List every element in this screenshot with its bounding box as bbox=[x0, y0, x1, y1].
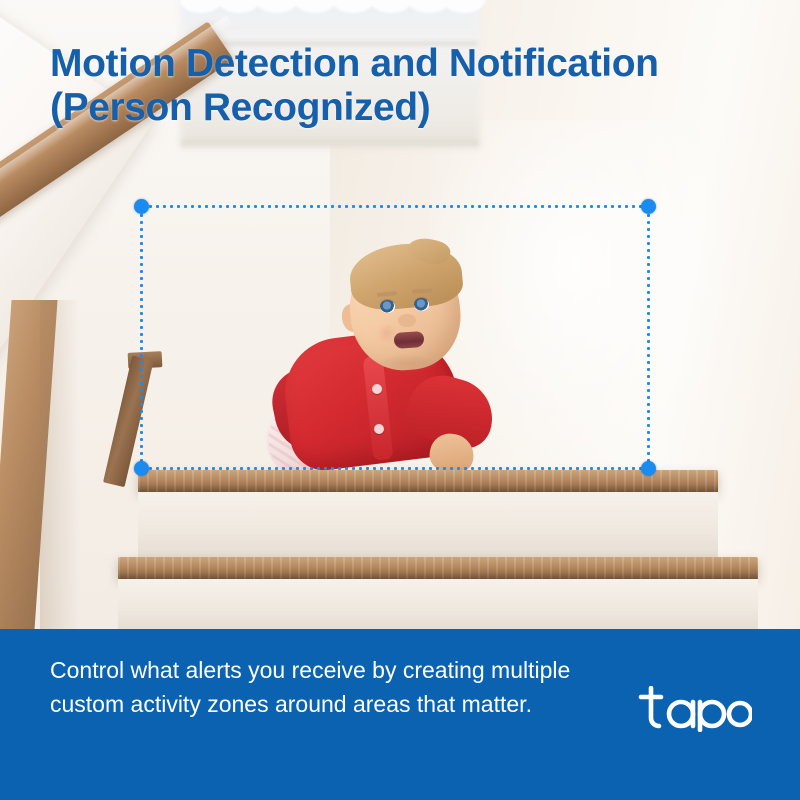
zone-border-top bbox=[140, 205, 650, 208]
zone-border-left bbox=[140, 205, 143, 470]
stringer-shadow bbox=[40, 300, 80, 630]
zone-handle-bottom-right[interactable] bbox=[641, 461, 656, 476]
stair-riser bbox=[118, 579, 758, 630]
window-sill bbox=[182, 140, 478, 145]
camera-scene: Motion Detection and Notification (Perso… bbox=[0, 0, 800, 630]
page-title-line-2: (Person Recognized) bbox=[50, 86, 690, 130]
zone-border-right bbox=[647, 205, 650, 470]
banner-description: Control what alerts you receive by creat… bbox=[50, 653, 590, 721]
window-valance bbox=[180, 0, 485, 13]
zone-handle-top-left[interactable] bbox=[134, 199, 149, 214]
zone-handle-top-right[interactable] bbox=[641, 199, 656, 214]
zone-border-bottom bbox=[140, 467, 650, 470]
tapo-logo bbox=[637, 686, 752, 732]
wood-grain bbox=[118, 557, 758, 579]
wood-grain bbox=[138, 470, 718, 492]
promo-canvas: Motion Detection and Notification (Perso… bbox=[0, 0, 800, 800]
zone-handle-bottom-left[interactable] bbox=[134, 461, 149, 476]
page-title-line-1: Motion Detection and Notification bbox=[50, 42, 690, 86]
activity-zone-overlay[interactable] bbox=[140, 205, 650, 470]
page-title: Motion Detection and Notification (Perso… bbox=[50, 42, 690, 130]
stair-riser bbox=[138, 492, 718, 558]
stair-tread bbox=[118, 557, 758, 579]
stair-tread bbox=[138, 470, 718, 492]
